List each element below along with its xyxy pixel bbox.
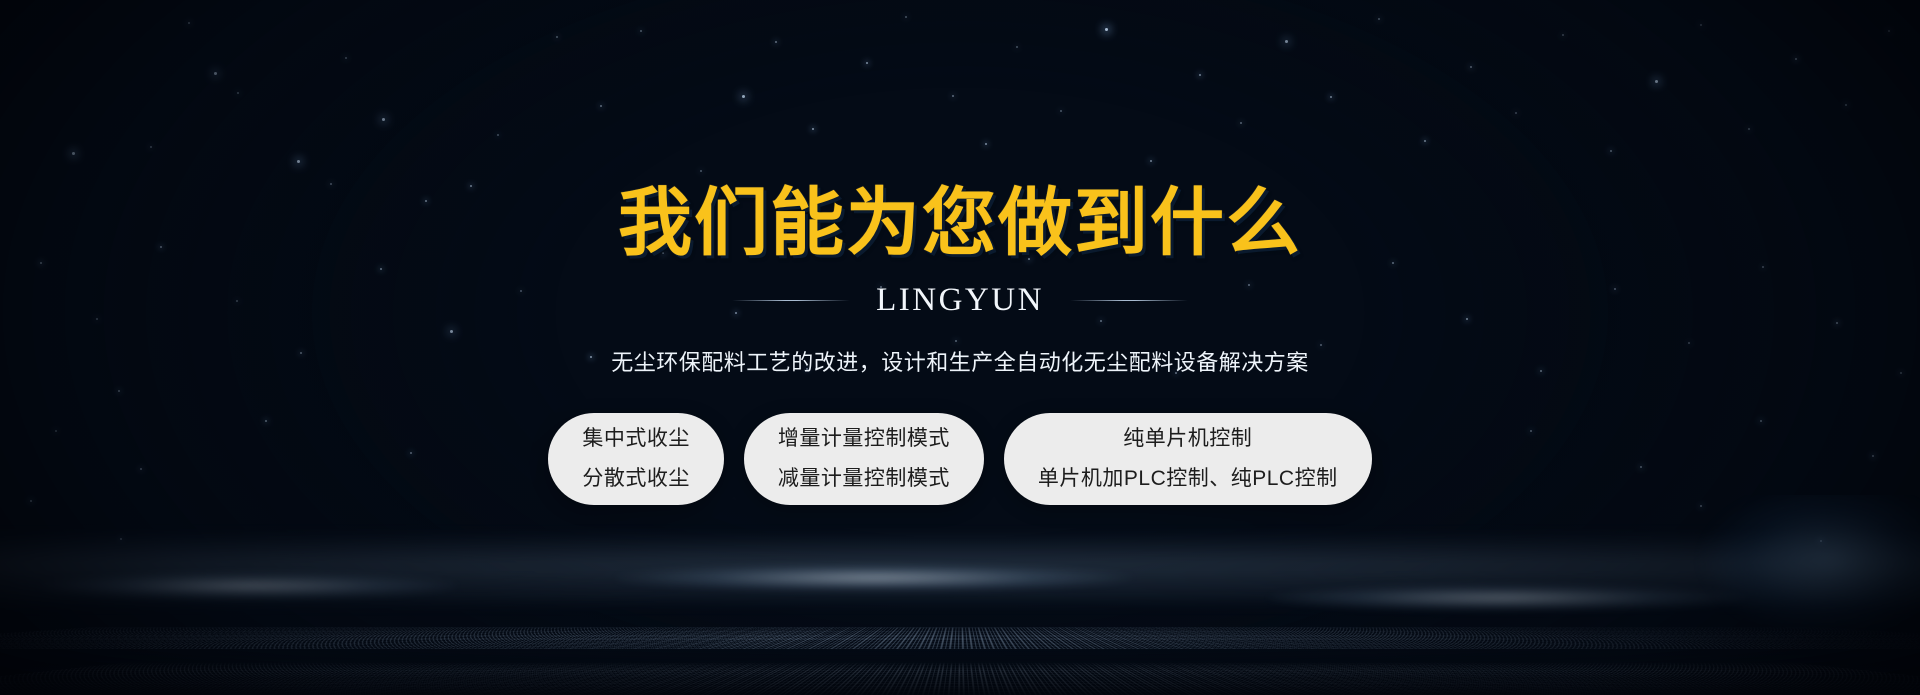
feature-card-line: 分散式收尘 <box>582 459 690 499</box>
feature-card[interactable]: 集中式收尘 分散式收尘 <box>548 413 724 505</box>
feature-card-list: 集中式收尘 分散式收尘 增量计量控制模式 减量计量控制模式 纯单片机控制 单片机… <box>548 413 1371 505</box>
feature-card[interactable]: 增量计量控制模式 减量计量控制模式 <box>744 413 984 505</box>
feature-card-line: 增量计量控制模式 <box>778 419 950 459</box>
banner-content: 我们能为您做到什么 LINGYUN 无尘环保配料工艺的改进，设计和生产全自动化无… <box>0 0 1920 695</box>
divider-line-left <box>732 300 850 301</box>
brand-name-en: LINGYUN <box>876 282 1044 319</box>
divider-line-right <box>1070 300 1188 301</box>
banner-headline: 我们能为您做到什么 <box>618 186 1302 260</box>
banner-description: 无尘环保配料工艺的改进，设计和生产全自动化无尘配料设备解决方案 <box>611 345 1309 377</box>
english-subtitle-row: LINGYUN <box>732 282 1188 319</box>
feature-card-line: 纯单片机控制 <box>1123 419 1252 459</box>
hero-banner: 我们能为您做到什么 LINGYUN 无尘环保配料工艺的改进，设计和生产全自动化无… <box>0 0 1920 695</box>
feature-card[interactable]: 纯单片机控制 单片机加PLC控制、纯PLC控制 <box>1004 413 1372 505</box>
feature-card-line: 单片机加PLC控制、纯PLC控制 <box>1038 459 1338 499</box>
feature-card-line: 集中式收尘 <box>582 419 690 459</box>
feature-card-line: 减量计量控制模式 <box>778 459 950 499</box>
